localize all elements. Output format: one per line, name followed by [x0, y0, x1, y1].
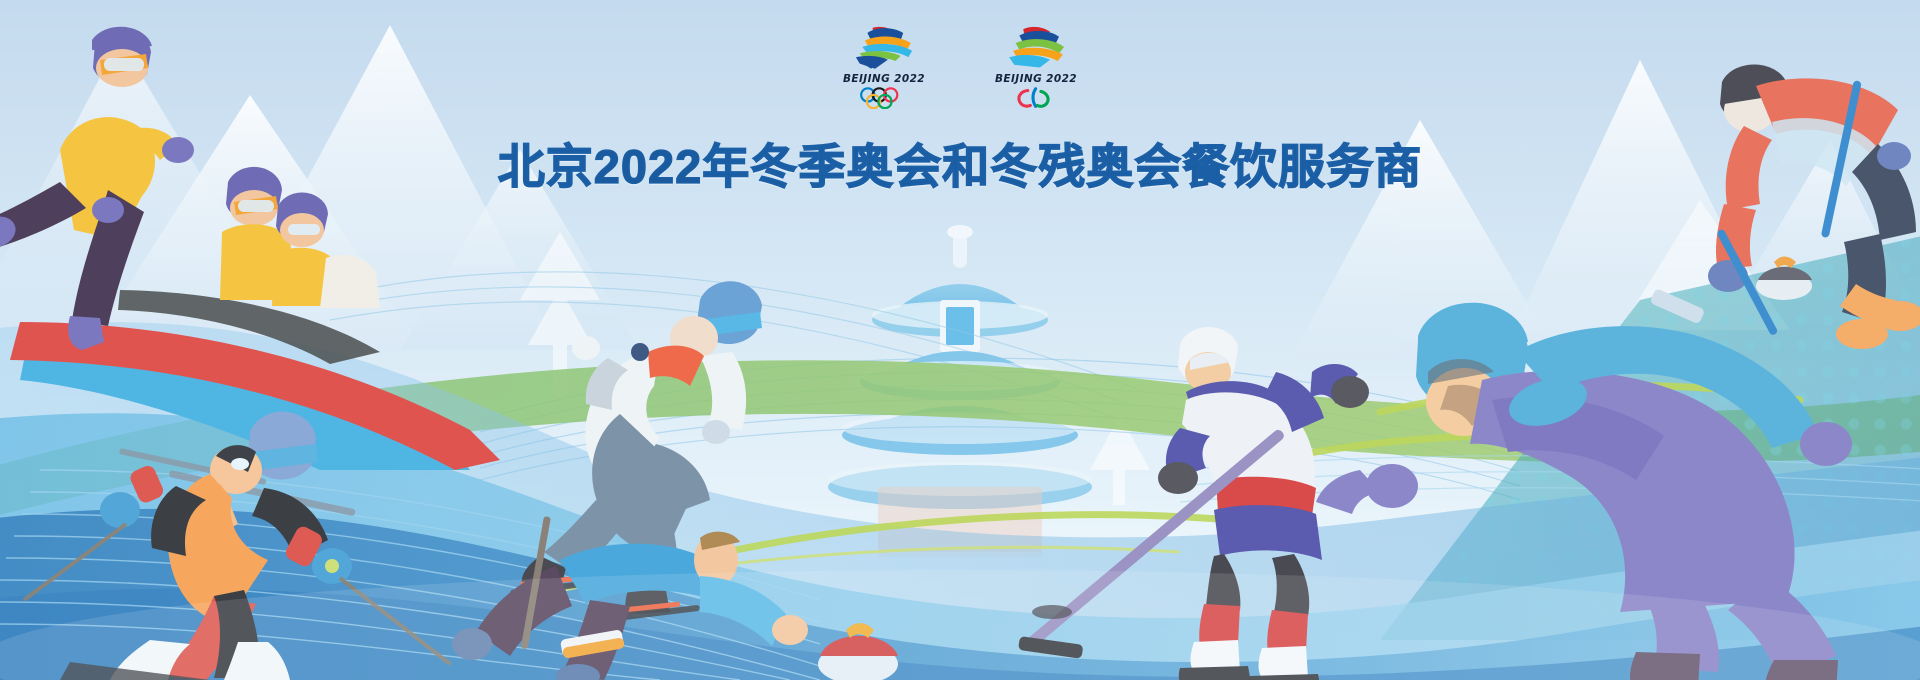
paralympic-agitos-icon [1011, 87, 1060, 109]
page-title: 北京2022年冬季奥会和冬残奥会餐饮服务商 [0, 128, 1920, 197]
emblem-wordmark: BEIJING 2022 [995, 73, 1077, 85]
emblem-group: BEIJING 2022 BEIJING 2022 [0, 24, 1920, 114]
beijing-2022-paralympic-emblem: BEIJING 2022 [986, 24, 1086, 109]
emblem-wordmark: BEIJING 2022 [843, 73, 925, 85]
flight-mark-icon [997, 24, 1075, 70]
olympic-banner: 北京2022年冬季奥会和冬残奥会餐饮服务商 横幅 [0, 0, 1920, 680]
winter-dream-mark-icon [845, 24, 923, 70]
olympic-rings-icon [859, 87, 908, 109]
beijing-2022-olympic-emblem: BEIJING 2022 [834, 24, 934, 109]
